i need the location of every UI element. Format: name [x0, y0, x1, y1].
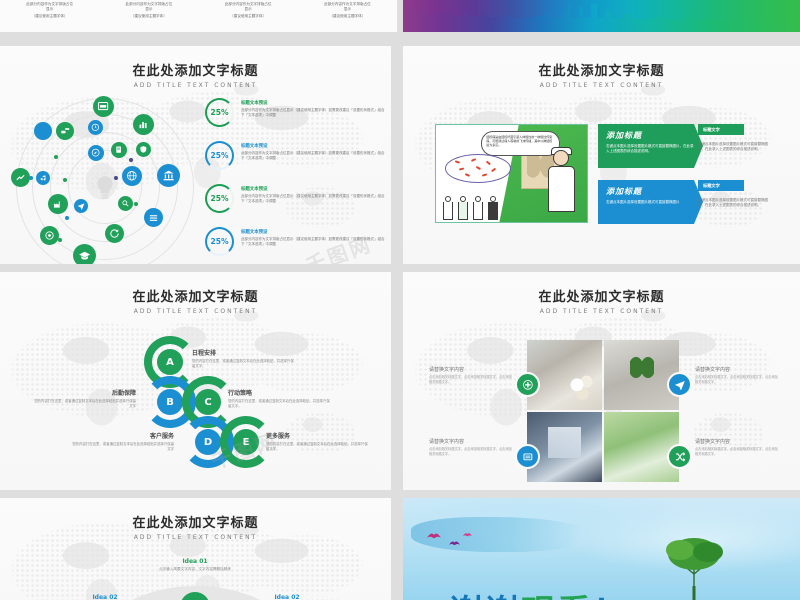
- percent-badge: 25%: [205, 98, 234, 127]
- status-badge-blue[interactable]: 标题文字: [698, 180, 744, 191]
- arrow-heading: 添加标题: [606, 130, 695, 141]
- label-b: 后勤保障 您的内容打在这里，或者通过复制文本后在此选择粘贴并选择只保留文字: [32, 388, 136, 410]
- page-subtitle: ADD TITLE TEXT CONTENT: [0, 534, 391, 541]
- label-heading: 客户服务: [70, 431, 174, 440]
- badge-body-blue: 右键点本图片选择设置图片格式可直接替换图片，在此录入上述图表的综合描述说明。: [698, 198, 774, 209]
- search-icon[interactable]: [118, 196, 133, 211]
- page-subtitle: ADD TITLE TEXT CONTENT: [0, 82, 391, 89]
- idea-label: Idea 02: [244, 594, 330, 600]
- caption-heading: 请替换文字内容: [429, 438, 513, 445]
- idea-label: Idea 01: [152, 558, 238, 565]
- column-line2: 显示: [4, 7, 95, 12]
- arrow-callout-green[interactable]: 添加标题 右键点本图片选择设置图片格式可直接替换图片，在此录入上述图表的综合描述…: [598, 124, 703, 168]
- label-body: 您的内容打在这里，或者通过复制文本后在此选择粘贴并选择只保留文字: [70, 442, 174, 453]
- item-body: 此部分内容作为文字排版占位显示（建议使用主题字体）如需更改建议「设置形状格式」组…: [241, 237, 385, 248]
- photo-green-collage[interactable]: [604, 412, 679, 482]
- label-body: 您的内容打在这里，或者通过复制文本后在此选择粘贴，并选择只保留文字。: [192, 359, 296, 370]
- text-column: 此部分内容作为文字排版占位 显示 （建议使用主题字体）: [0, 2, 99, 20]
- label-heading: 后勤保障: [32, 388, 136, 397]
- shuffle-icon[interactable]: [667, 444, 692, 469]
- badge-body-green: 右键点本图片选择设置图片格式可直接替换图片，在此录入上述图表的综合描述说明。: [698, 142, 774, 153]
- cartoon-illustration[interactable]: 结核病是由结核杆菌引起人体慢性的一种慢性传染病，可能通过病人咳嗽的飞沫传播，其中…: [435, 124, 588, 223]
- globe-network-icon[interactable]: [122, 166, 142, 186]
- presentation-thumbnail-grid: 此部分内容作为文字排版占位 显示 （建议使用主题字体） 此部分内容作为文字排版占…: [0, 0, 800, 600]
- thank-you-part1: 谢谢: [449, 593, 521, 600]
- item-heading: 标题文本预设: [241, 100, 385, 106]
- item-body: 此部分内容作为文字排版占位显示（建议使用主题字体）如需更改建议「设置形状格式」组…: [241, 108, 385, 119]
- node-d[interactable]: D: [195, 429, 221, 455]
- slide-thank-you[interactable]: 谢谢观看！: [403, 498, 800, 600]
- germ-cluster: [445, 154, 511, 183]
- connector-dot: [63, 178, 67, 182]
- item-body: 此部分内容作为文字排版占位显示（建议使用主题字体）如需更改建议「设置形状格式」组…: [241, 151, 385, 162]
- window-icon[interactable]: [93, 96, 114, 117]
- item-heading: 标题文本预设: [241, 186, 385, 192]
- crowd-figures: [442, 181, 518, 220]
- arrow-body: 右键点本图片选择设置图片格式可直接替换图片，在此录入上述图表的综合描述说明。: [606, 144, 695, 155]
- caption-body: 点击添加相关标题文字，点击添加相关标题文字，点击添加相关标题文字。: [429, 447, 513, 457]
- refresh-icon[interactable]: [105, 224, 124, 243]
- music-icon[interactable]: [36, 171, 50, 185]
- item-heading: 标题文本预设: [241, 229, 385, 235]
- page-title: 在此处添加文字标题: [0, 286, 391, 305]
- bird-icon: [427, 524, 441, 531]
- arrow-callout-blue[interactable]: 添加标题 右键点本图片选择设置图片格式可直接替换图片: [598, 180, 703, 224]
- label-body: 您的内容打在这里，或者通过复制文本后在此选择粘贴并选择只保留文字: [32, 399, 136, 410]
- clock-icon[interactable]: [88, 120, 103, 135]
- list-icon[interactable]: [515, 444, 540, 469]
- icon-cluster: [10, 98, 200, 264]
- thank-you-part2: 观看: [521, 593, 593, 600]
- page-subtitle: ADD TITLE TEXT CONTENT: [403, 82, 800, 89]
- column-hint: （建议使用主题字体）: [302, 14, 393, 19]
- medical-cross-icon[interactable]: [515, 372, 540, 397]
- list-item[interactable]: 25% 标题文本预设 此部分内容作为文字排版占位显示（建议使用主题字体）如需更改…: [205, 141, 385, 177]
- caption-left-bottom: 请替换文字内容 点击添加相关标题文字，点击添加相关标题文字，点击添加相关标题文字…: [429, 438, 513, 457]
- label-heading: 日程安排: [192, 348, 296, 357]
- page-title: 在此处添加文字标题: [403, 60, 800, 79]
- slide-text-placeholder-strip[interactable]: 此部分内容作为文字排版占位 显示 （建议使用主题字体） 此部分内容作为文字排版占…: [0, 0, 397, 32]
- compass-icon[interactable]: [88, 145, 104, 161]
- thank-you-text: 谢谢观看！: [449, 585, 629, 600]
- text-column: 此部分内容作为文字排版占位 显示 （建议使用主题字体）: [199, 2, 298, 20]
- photo-grid: [527, 340, 679, 482]
- caption-left-top: 请替换文字内容 点击添加相关标题文字，点击添加相关标题文字，点击添加相关标题文字…: [429, 366, 513, 385]
- handshake-icon[interactable]: [56, 122, 74, 140]
- bird-icon: [449, 531, 460, 537]
- caption-heading: 请替换文字内容: [695, 438, 779, 445]
- book-icon[interactable]: [111, 142, 127, 158]
- photo-lungs-hands[interactable]: [604, 340, 679, 410]
- label-heading: 行动策略: [228, 388, 332, 397]
- connector-dot: [134, 202, 138, 206]
- idea-02-right-text: Idea 02 点击输入简要文字内容，文字内容需概括精炼: [244, 594, 330, 600]
- label-c: 行动策略 您的内容打在这里，或者通过复制文本后在此选择粘贴，并选择只保留文字。: [228, 388, 332, 410]
- column-hint: （建议使用主题字体）: [103, 14, 194, 19]
- doctor-figure: [545, 150, 578, 212]
- slide-photo-grid[interactable]: 在此处添加文字标题 ADD TITLE TEXT CONTENT 请: [403, 272, 800, 490]
- thank-you-part3: ！: [593, 593, 629, 600]
- idea-body: 点击输入简要文字内容，文字内容需概括精炼: [152, 567, 238, 572]
- caption-body: 点击添加相关标题文字，点击添加相关标题文字，点击添加相关标题文字。: [695, 375, 779, 385]
- tree-illustration: [634, 528, 754, 600]
- caption-right-top: 请替换文字内容 点击添加相关标题文字，点击添加相关标题文字，点击添加相关标题文字…: [695, 366, 779, 385]
- label-heading: 更多服务: [266, 431, 370, 440]
- arrow-heading: 添加标题: [606, 186, 695, 197]
- slide-cartoon-arrows[interactable]: 在此处添加文字标题 ADD TITLE TEXT CONTENT 结核病是由结核…: [403, 46, 800, 264]
- idea-label: Idea 02: [62, 594, 148, 600]
- photo-xray-doctors[interactable]: [527, 412, 602, 482]
- caption-heading: 请替换文字内容: [695, 366, 779, 373]
- slide-network-percent[interactable]: 在此处添加文字标题 ADD TITLE TEXT CONTENT: [0, 46, 391, 264]
- slide-abcde-chain[interactable]: 在此处添加文字标题 ADD TITLE TEXT CONTENT A B C D…: [0, 272, 391, 490]
- chart-up-icon[interactable]: [11, 168, 30, 187]
- connector-dot: [29, 176, 33, 180]
- bank-icon[interactable]: [157, 164, 180, 187]
- column-hint: （建议使用主题字体）: [4, 14, 95, 19]
- node-e[interactable]: E: [233, 429, 259, 455]
- graduation-cap-icon[interactable]: [73, 244, 96, 264]
- text-column: 此部分内容作为文字排版占位 显示 （建议使用主题字体）: [298, 2, 397, 20]
- column-line2: 显示: [203, 7, 294, 12]
- connector-dot: [58, 238, 62, 242]
- node-a[interactable]: A: [157, 349, 183, 375]
- label-body: 您的内容打在这里，或者通过复制文本后在此选择粘贴，并选择只保留文字。: [228, 399, 332, 410]
- send-icon[interactable]: [667, 372, 692, 397]
- text-column: 此部分内容作为文字排版占位 显示 （建议使用主题字体）: [99, 2, 198, 20]
- bar-chart-icon[interactable]: [133, 114, 154, 135]
- percent-badge: 25%: [205, 184, 234, 213]
- caption-body: 点击添加相关标题文字，点击添加相关标题文字，点击添加相关标题文字。: [429, 375, 513, 385]
- photo-woman-mask[interactable]: [527, 340, 602, 410]
- slide-idea-arc[interactable]: 在此处添加文字标题 ADD TITLE TEXT CONTENT Idea 01…: [0, 498, 391, 600]
- percent-badge: 25%: [205, 227, 234, 256]
- column-line2: 显示: [302, 7, 393, 12]
- circle-dot-icon[interactable]: [34, 122, 52, 140]
- caption-right-bottom: 请替换文字内容 点击添加相关标题文字，点击添加相关标题文字，点击添加相关标题文字…: [695, 438, 779, 457]
- text-columns: 此部分内容作为文字排版占位 显示 （建议使用主题字体） 此部分内容作为文字排版占…: [0, 2, 397, 20]
- connector-dot: [129, 158, 133, 162]
- arrow-body: 右键点本图片选择设置图片格式可直接替换图片: [606, 200, 695, 205]
- item-heading: 标题文本预设: [241, 143, 385, 149]
- shield-icon[interactable]: [136, 142, 151, 157]
- connector-dot: [54, 155, 58, 159]
- list-icon[interactable]: [144, 208, 163, 227]
- list-item[interactable]: 25% 标题文本预设 此部分内容作为文字排版占位显示（建议使用主题字体）如需更改…: [205, 98, 385, 134]
- doctor-head: [553, 150, 569, 166]
- list-item[interactable]: 25% 标题文本预设 此部分内容作为文字排版占位显示（建议使用主题字体）如需更改…: [205, 227, 385, 263]
- connector-dot: [114, 176, 118, 180]
- send-icon[interactable]: [74, 199, 88, 213]
- label-a: 日程安排 您的内容打在这里，或者通过复制文本后在此选择粘贴，并选择只保留文字。: [192, 348, 296, 370]
- column-line2: 显示: [103, 7, 194, 12]
- idea-01-text: Idea 01 点击输入简要文字内容，文字内容需概括精炼: [152, 558, 238, 572]
- item-body: 此部分内容作为文字排版占位显示（建议使用主题字体）如需更改建议「设置形状格式」组…: [241, 194, 385, 205]
- factory-icon[interactable]: [48, 194, 68, 214]
- bird-icon: [463, 522, 472, 527]
- node-c[interactable]: C: [195, 389, 221, 415]
- connector-dot: [65, 216, 69, 220]
- city-skyline-icon: [403, 0, 800, 32]
- label-d: 客户服务 您的内容打在这里，或者通过复制文本后在此选择粘贴并选择只保留文字: [70, 431, 174, 453]
- percent-badge: 25%: [205, 141, 234, 170]
- caption-heading: 请替换文字内容: [429, 366, 513, 373]
- label-e: 更多服务 您的内容打在这里，或者通过复制文本后在此选择粘贴，并选择只保留文字。: [266, 431, 370, 453]
- list-item[interactable]: 25% 标题文本预设 此部分内容作为文字排版占位显示（建议使用主题字体）如需更改…: [205, 184, 385, 220]
- page-subtitle: ADD TITLE TEXT CONTENT: [403, 308, 800, 315]
- caption-body: 点击添加相关标题文字，点击添加相关标题文字，点击添加相关标题文字。: [695, 447, 779, 457]
- column-hint: （建议使用主题字体）: [203, 14, 294, 19]
- node-b[interactable]: B: [157, 389, 183, 415]
- page-title: 在此处添加文字标题: [0, 512, 391, 531]
- page-title: 在此处添加文字标题: [403, 286, 800, 305]
- label-body: 您的内容打在这里，或者通过复制文本后在此选择粘贴，并选择只保留文字。: [266, 442, 370, 453]
- status-badge-green[interactable]: 标题文字: [698, 124, 744, 135]
- doctor-coat: [548, 166, 575, 213]
- target-icon[interactable]: [40, 226, 59, 245]
- slide-city-skyline-banner[interactable]: [403, 0, 800, 32]
- idea-02-left-text: Idea 02 点击输入简要文字内容，文字内容需概括精炼: [62, 594, 148, 600]
- page-subtitle: ADD TITLE TEXT CONTENT: [0, 308, 391, 315]
- page-title: 在此处添加文字标题: [0, 60, 391, 79]
- percent-list: 25% 标题文本预设 此部分内容作为文字排版占位显示（建议使用主题字体）如需更改…: [205, 98, 385, 264]
